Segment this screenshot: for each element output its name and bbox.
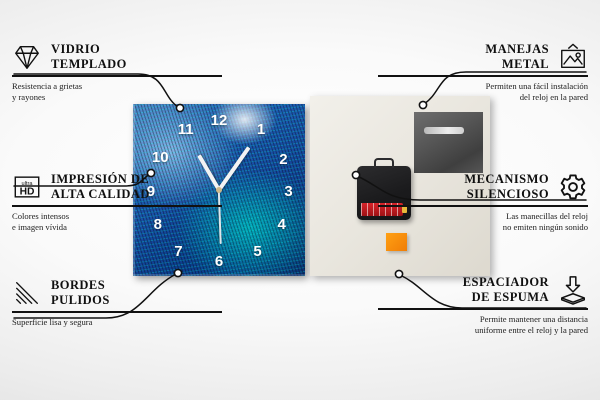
feature-title: MECANISMO SILENCIOSO: [464, 172, 549, 202]
feature-divider: [378, 308, 588, 310]
svg-text:HD: HD: [20, 187, 35, 198]
feature-desc-line2: y rayones: [12, 92, 222, 103]
gear-icon: [558, 172, 588, 202]
feature-title-line2: SILENCIOSO: [464, 187, 549, 202]
feature-desc-line1: Colores intensos: [12, 211, 222, 222]
feature-espaciador-de-espuma: ESPACIADOR DE ESPUMA Permite mantener un…: [378, 275, 588, 336]
clock-numeral-2: 2: [279, 152, 287, 167]
feature-title: VIDRIO TEMPLADO: [51, 42, 127, 72]
feature-title-line1: IMPRESIÓN DE: [51, 172, 150, 187]
feature-desc-line1: Permiten una fácil instalación: [378, 81, 588, 92]
ultra-hd-icon: ultra HD: [12, 172, 42, 202]
feature-mecanismo-silencioso: MECANISMO SILENCIOSO Las manecillas del …: [378, 172, 588, 233]
feature-header: ultra HD IMPRESIÓN DE ALTA CALIDAD: [12, 172, 222, 202]
hanger-slot: [424, 127, 464, 134]
clock-numeral-11: 11: [178, 122, 194, 137]
movement-hanger-tab: [374, 158, 393, 169]
clock-numeral-12: 12: [211, 113, 228, 128]
feature-header: BORDES PULIDOS: [12, 278, 222, 308]
foam-spacer-arrow-icon: [558, 275, 588, 305]
hanging-picture-frame-icon: [558, 42, 588, 72]
feature-header: VIDRIO TEMPLADO: [12, 42, 222, 72]
infographic-canvas: 12 1 2 3 4 5 6 7 8 9 10 11: [0, 0, 600, 400]
clock-numeral-6: 6: [215, 254, 223, 269]
feature-impresion-alta-calidad: ultra HD IMPRESIÓN DE ALTA CALIDAD Color…: [12, 172, 222, 233]
clock-numeral-4: 4: [277, 217, 285, 232]
feature-divider: [12, 311, 222, 313]
feature-desc-line2: del reloj en la pared: [378, 92, 588, 103]
clock-numeral-3: 3: [284, 184, 292, 199]
feature-title-line2: PULIDOS: [51, 293, 110, 308]
feature-desc-line2: uniforme entre el reloj y la pared: [378, 325, 588, 336]
feature-desc-line1: Permite mantener una distancia: [378, 314, 588, 325]
feature-title-line2: METAL: [485, 57, 549, 72]
feature-manejas-metal: MANEJAS METAL Permiten una fácil instala…: [378, 42, 588, 103]
metal-hanger-plate: [414, 112, 482, 173]
feature-title-line2: TEMPLADO: [51, 57, 127, 72]
feature-title-line1: ESPACIADOR: [463, 275, 549, 290]
clock-numeral-10: 10: [152, 150, 169, 165]
feature-title: BORDES PULIDOS: [51, 278, 110, 308]
clock-numeral-7: 7: [174, 244, 182, 259]
feature-vidrio-templado: VIDRIO TEMPLADO Resistencia a grietas y …: [12, 42, 222, 103]
feature-header: ESPACIADOR DE ESPUMA: [378, 275, 588, 305]
feature-divider: [378, 75, 588, 77]
feature-desc-line2: no emiten ningún sonido: [378, 222, 588, 233]
feature-divider: [378, 205, 588, 207]
foam-spacer: [386, 233, 408, 251]
clock-numeral-1: 1: [257, 122, 265, 137]
feature-desc-line1: Resistencia a grietas: [12, 81, 222, 92]
feature-desc-line1: Superficie lisa y segura: [12, 317, 222, 328]
feature-desc-line1: Las manecillas del reloj: [378, 211, 588, 222]
clock-numeral-5: 5: [253, 244, 261, 259]
diamond-icon: [12, 42, 42, 72]
feature-title: IMPRESIÓN DE ALTA CALIDAD: [51, 172, 150, 202]
feature-divider: [12, 205, 222, 207]
feature-title: ESPACIADOR DE ESPUMA: [463, 275, 549, 305]
feature-title-line1: VIDRIO: [51, 42, 127, 57]
feature-title-line2: DE ESPUMA: [463, 290, 549, 305]
feature-title-line1: BORDES: [51, 278, 110, 293]
polished-edges-icon: [12, 278, 42, 308]
feature-title-line1: MECANISMO: [464, 172, 549, 187]
feature-header: MANEJAS METAL: [378, 42, 588, 72]
feature-title-line1: MANEJAS: [485, 42, 549, 57]
feature-header: MECANISMO SILENCIOSO: [378, 172, 588, 202]
feature-title: MANEJAS METAL: [485, 42, 549, 72]
feature-bordes-pulidos: BORDES PULIDOS Superficie lisa y segura: [12, 278, 222, 328]
feature-divider: [12, 75, 222, 77]
feature-desc-line2: e imagen vívida: [12, 222, 222, 233]
feature-title-line2: ALTA CALIDAD: [51, 187, 150, 202]
